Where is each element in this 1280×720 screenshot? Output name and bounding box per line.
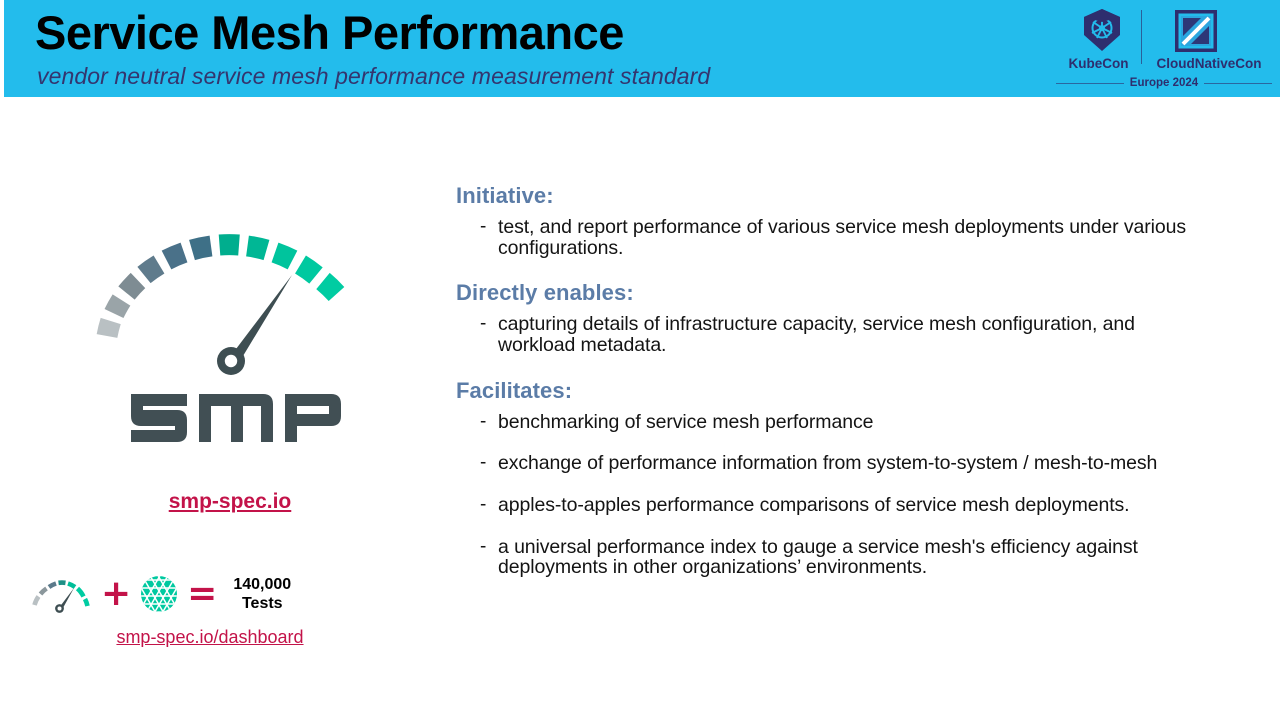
tests-count-label: Tests [233,594,291,613]
section-initiative: Initiative: - test, and report performan… [456,183,1216,258]
smp-spec-link[interactable]: smp-spec.io [30,490,430,514]
bullet-marker: - [456,412,498,432]
bullet-text: a universal performance index to gauge a… [498,537,1216,578]
list-item: - a universal performance index to gauge… [456,537,1216,578]
cloudnativecon-icon [1175,10,1217,52]
bullet-list: - test, and report performance of variou… [456,217,1216,258]
bullet-marker: - [456,495,498,515]
list-item: - exchange of performance information fr… [456,453,1216,474]
plus-symbol: + [101,576,131,612]
list-item: - apples-to-apples performance compariso… [456,495,1216,516]
slide-header: Service Mesh Performance vendor neutral … [4,0,1280,97]
bullet-list: - benchmarking of service mesh performan… [456,412,1216,578]
bullet-marker: - [456,314,498,334]
content-column: Initiative: - test, and report performan… [456,183,1216,599]
section-heading: Facilitates: [456,378,1216,404]
gauge-icon [30,573,92,615]
section-facilitates: Facilitates: - benchmarking of service m… [456,378,1216,578]
page-title: Service Mesh Performance [35,6,624,60]
smp-gauge-logo [85,210,385,375]
conference-edition-row: Europe 2024 [1056,77,1272,89]
bullet-text: exchange of performance information from… [498,453,1216,474]
tests-count: 140,000 Tests [233,575,291,613]
tests-count-number: 140,000 [233,575,291,594]
kubecon-label: KubeCon [1056,56,1141,71]
page-subtitle: vendor neutral service mesh performance … [37,63,710,90]
list-item: - benchmarking of service mesh performan… [456,412,1216,433]
bullet-marker: - [456,217,498,237]
rule-right [1204,83,1272,84]
list-item: - capturing details of infrastructure ca… [456,314,1216,355]
smp-dashboard-link[interactable]: smp-spec.io/dashboard [0,627,420,648]
equals-symbol: = [187,576,217,612]
bullet-text: benchmarking of service mesh performance [498,412,1216,433]
section-heading: Directly enables: [456,280,1216,306]
bullet-text: capturing details of infrastructure capa… [498,314,1216,355]
rule-left [1056,83,1124,84]
logo-divider [1141,10,1142,64]
section-directly-enables: Directly enables: - capturing details of… [456,280,1216,355]
bullet-marker: - [456,453,498,473]
bullet-text: test, and report performance of various … [498,217,1216,258]
kubecon-cloudnativecon-logo: KubeCon CloudNativeCon Europe 2024 [1056,4,1272,92]
bullet-text: apples-to-apples performance comparisons… [498,495,1216,516]
bullet-marker: - [456,537,498,557]
kubernetes-helm-icon [1080,8,1124,52]
conference-edition-label: Europe 2024 [1130,77,1198,89]
slide-root: Service Mesh Performance vendor neutral … [0,0,1280,720]
list-item: - test, and report performance of variou… [456,217,1216,258]
smp-wordmark [125,382,345,444]
section-heading: Initiative: [456,183,1216,209]
cloudnativecon-label: CloudNativeCon [1146,56,1272,71]
tests-equation-row: + [30,568,360,620]
bullet-list: - capturing details of infrastructure ca… [456,314,1216,355]
meshery-icon [140,575,178,613]
